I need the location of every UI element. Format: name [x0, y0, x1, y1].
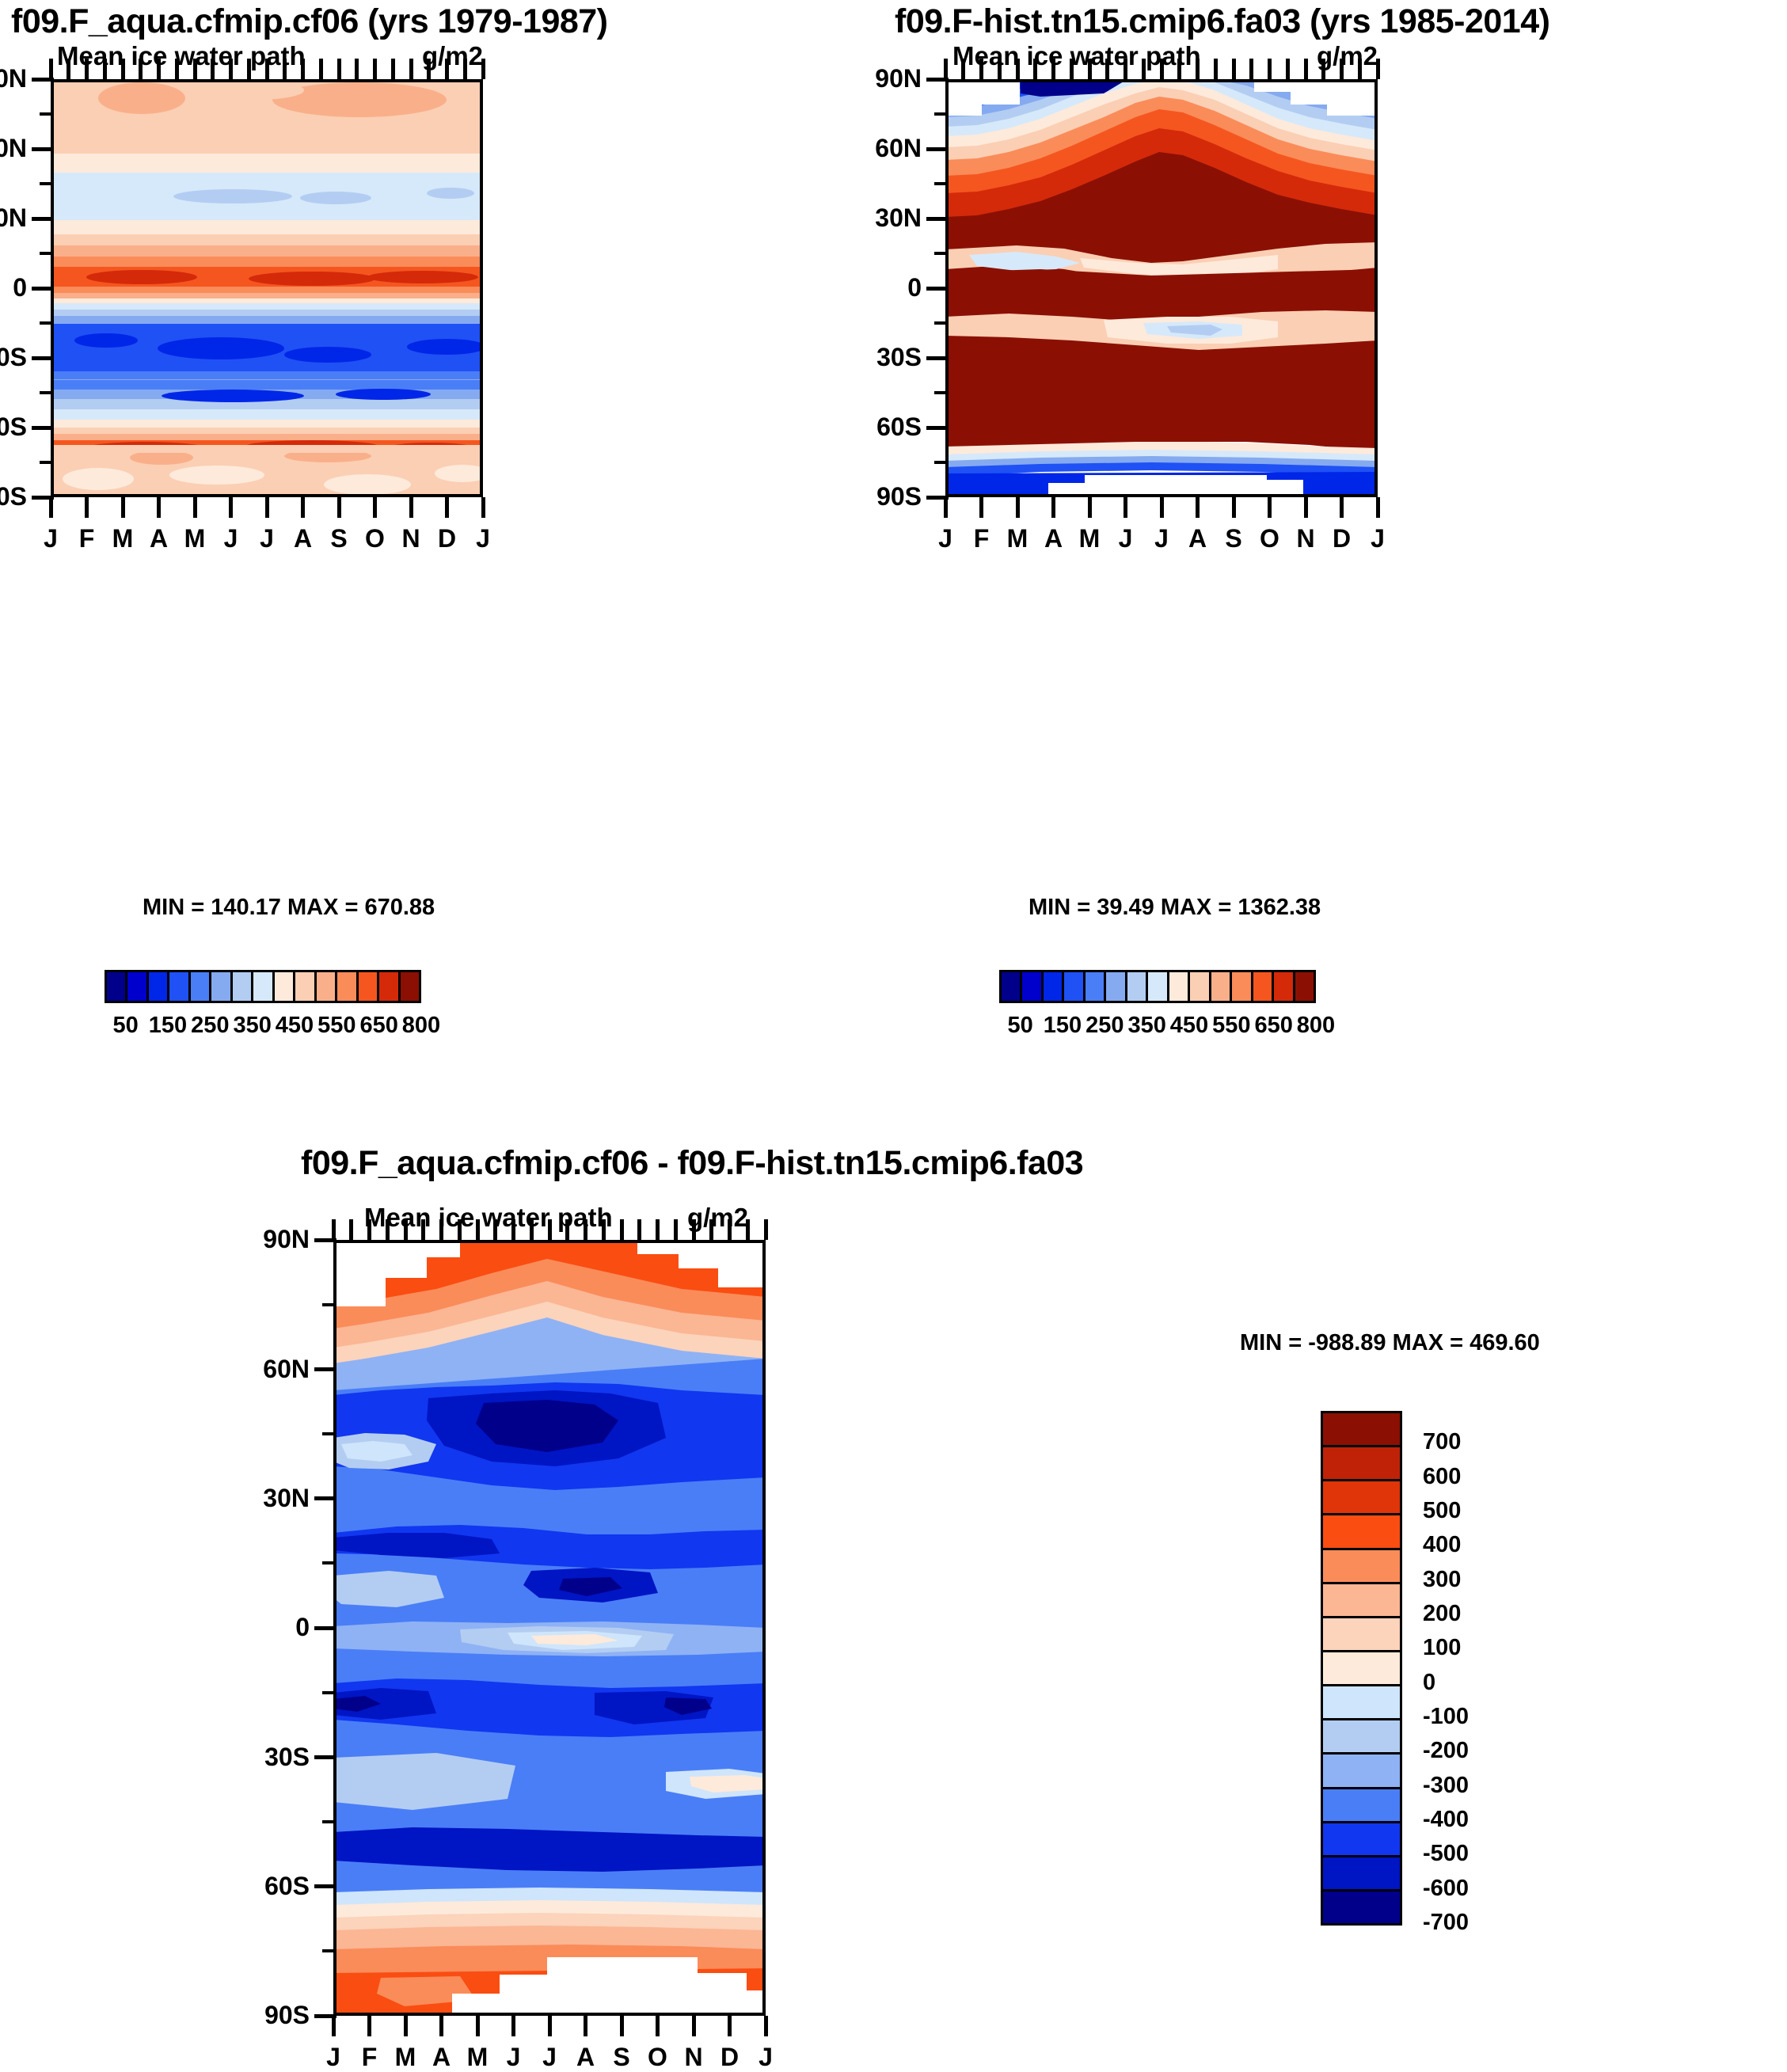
x-tick-bottom	[193, 497, 197, 518]
colorbar-swatch	[337, 972, 358, 1001]
x-tick-bottom	[476, 2016, 480, 2036]
panel-diff-colorbar	[1321, 1411, 1402, 1926]
colorbar-swatch	[1106, 972, 1127, 1001]
x-tick-top-minor	[1214, 59, 1218, 79]
colorbar-swatch	[1002, 972, 1022, 1001]
panel-right-subtitle: Mean ice water path	[952, 41, 1201, 71]
colorbar-tick-label: 300	[1423, 1567, 1542, 1593]
x-tick-bottom	[584, 2016, 587, 2036]
x-tick-top-minor	[247, 59, 251, 79]
colorbar-swatch	[1323, 1789, 1400, 1823]
y-tick-minor	[322, 1303, 336, 1306]
y-tick-minor	[322, 1561, 336, 1564]
y-tick-minor	[934, 252, 949, 255]
x-tick-bottom	[979, 497, 983, 518]
panel-left: f09.F_aqua.cfmip.cf06 (yrs 1979-1987) Me…	[0, 0, 530, 1061]
y-tick-minor	[934, 321, 949, 325]
x-tick-bottom	[49, 497, 53, 518]
y-tick-major	[32, 147, 54, 151]
x-tick-bottom	[332, 2016, 336, 2036]
colorbar-swatch	[1323, 1550, 1400, 1584]
panel-diff-subtitle: Mean ice water path	[364, 1203, 613, 1233]
y-axis-label: 0	[183, 1613, 310, 1642]
panel-right: f09.F-hist.tn15.cmip6.fa03 (yrs 1985-201…	[895, 0, 1787, 1061]
x-tick-top-minor	[1105, 59, 1109, 79]
x-tick-top-minor	[103, 59, 107, 79]
colorbar-swatch	[401, 972, 419, 1001]
x-tick-top-minor	[1321, 59, 1325, 79]
x-tick-bottom	[1376, 497, 1380, 518]
panel-diff-minmax: MIN = -988.89 MAX = 469.60	[1240, 1330, 1540, 1356]
y-tick-minor	[40, 112, 54, 116]
colorbar-tick-label: -200	[1423, 1738, 1542, 1764]
colorbar-swatch	[1190, 972, 1211, 1001]
x-tick-top-minor	[349, 1219, 353, 1240]
y-tick-minor	[40, 252, 54, 255]
x-tick-top	[409, 59, 413, 79]
panel-diff-units: g/m2	[687, 1203, 748, 1233]
x-tick-top	[944, 59, 948, 79]
colorbar-swatch	[1323, 1857, 1400, 1891]
x-tick-top	[728, 1219, 732, 1240]
x-tick-bottom	[1160, 497, 1164, 518]
y-tick-minor	[322, 1949, 336, 1952]
colorbar-swatch	[359, 972, 379, 1001]
colorbar-tick-label: -600	[1423, 1876, 1542, 1902]
x-tick-top	[1340, 59, 1344, 79]
y-tick-major	[926, 147, 949, 151]
x-tick-top-minor	[175, 59, 179, 79]
x-tick-bottom	[367, 2016, 371, 2036]
colorbar-swatch	[149, 972, 169, 1001]
colorbar-tick-label: -400	[1423, 1807, 1542, 1833]
x-tick-top	[157, 59, 161, 79]
x-tick-top-minor	[1249, 59, 1253, 79]
colorbar-swatch	[1274, 972, 1295, 1001]
colorbar-swatch	[1323, 1720, 1400, 1755]
y-axis-label: 60N	[183, 1355, 310, 1384]
colorbar-swatch	[1148, 972, 1169, 1001]
colorbar-swatch	[1323, 1481, 1400, 1515]
x-tick-top	[332, 1219, 336, 1240]
x-tick-bottom	[301, 497, 305, 518]
x-tick-bottom	[764, 2016, 768, 2036]
y-tick-minor	[934, 461, 949, 464]
colorbar-swatch	[1044, 972, 1064, 1001]
x-tick-top	[49, 59, 53, 79]
x-tick-top-minor	[211, 59, 215, 79]
y-tick-minor	[40, 461, 54, 464]
x-tick-top-minor	[1358, 59, 1362, 79]
x-tick-top-minor	[674, 1219, 678, 1240]
y-tick-major	[314, 1496, 336, 1500]
colorbar-swatch	[1295, 972, 1314, 1001]
panel-left-units: g/m2	[422, 41, 483, 71]
x-tick-top-minor	[637, 1219, 641, 1240]
x-tick-bottom	[692, 2016, 696, 2036]
panel-diff-title: f09.F_aqua.cfmip.cf06 - f09.F-hist.tn15.…	[301, 1144, 1083, 1183]
x-tick-top	[337, 59, 341, 79]
x-tick-bottom	[548, 2016, 552, 2036]
colorbar-tick-label: 200	[1423, 1601, 1542, 1627]
x-tick-top	[265, 59, 269, 79]
colorbar-tick-label: 800	[1284, 1013, 1348, 1039]
x-tick-top-minor	[67, 59, 70, 79]
x-tick-bottom	[1268, 497, 1272, 518]
colorbar-tick-label: 700	[1423, 1429, 1542, 1455]
panel-right-colorbar	[999, 970, 1316, 1003]
colorbar-swatch	[1086, 972, 1106, 1001]
x-tick-top-minor	[602, 1219, 606, 1240]
x-tick-top	[481, 59, 485, 79]
x-tick-top-minor	[139, 59, 143, 79]
y-tick-minor	[322, 1432, 336, 1435]
y-tick-minor	[40, 321, 54, 325]
x-tick-top	[1268, 59, 1272, 79]
panel-left-minmax: MIN = 140.17 MAX = 670.88	[143, 895, 435, 921]
y-tick-minor	[40, 182, 54, 185]
x-tick-bottom	[85, 497, 89, 518]
y-tick-major	[314, 1884, 336, 1888]
x-tick-top	[193, 59, 197, 79]
colorbar-swatch	[275, 972, 295, 1001]
colorbar-swatch	[1022, 972, 1043, 1001]
x-tick-bottom	[1196, 497, 1200, 518]
y-tick-major	[926, 426, 949, 430]
colorbar-swatch	[317, 972, 337, 1001]
x-tick-top-minor	[998, 59, 1002, 79]
x-axis-label: J	[1354, 524, 1401, 553]
x-tick-top-minor	[1286, 59, 1290, 79]
colorbar-swatch	[191, 972, 211, 1001]
x-tick-bottom	[1016, 497, 1020, 518]
x-tick-top-minor	[746, 1219, 750, 1240]
x-tick-top-minor	[1070, 59, 1074, 79]
x-tick-bottom	[1232, 497, 1236, 518]
y-axis-label: 30N	[0, 203, 27, 233]
x-tick-bottom	[404, 2016, 408, 2036]
x-tick-top	[692, 1219, 696, 1240]
y-tick-minor	[934, 182, 949, 185]
y-tick-minor	[322, 1691, 336, 1694]
x-tick-top-minor	[427, 59, 431, 79]
x-tick-bottom	[445, 497, 449, 518]
x-tick-top	[1016, 59, 1020, 79]
y-axis-label: 30S	[0, 343, 27, 372]
x-tick-top	[301, 59, 305, 79]
x-tick-bottom	[229, 497, 233, 518]
x-tick-bottom	[1340, 497, 1344, 518]
x-tick-bottom	[409, 497, 413, 518]
colorbar-swatch	[295, 972, 316, 1001]
colorbar-tick-label: -300	[1423, 1773, 1542, 1799]
x-tick-bottom	[656, 2016, 660, 2036]
y-tick-minor	[40, 391, 54, 394]
colorbar-tick-label: 500	[1423, 1498, 1542, 1524]
x-tick-bottom	[1124, 497, 1127, 518]
x-tick-top	[1051, 59, 1055, 79]
panel-diff: f09.F_aqua.cfmip.cf06 - f09.F-hist.tn15.…	[301, 1124, 1787, 2055]
colorbar-swatch	[379, 972, 400, 1001]
x-tick-bottom	[439, 2016, 443, 2036]
colorbar-tick-label: 600	[1423, 1464, 1542, 1490]
x-tick-top	[85, 59, 89, 79]
y-axis-label: 90S	[183, 2001, 310, 2030]
x-axis-label: J	[459, 524, 507, 553]
colorbar-swatch	[211, 972, 232, 1001]
x-tick-top-minor	[1177, 59, 1181, 79]
y-tick-major	[32, 356, 54, 360]
x-tick-top	[1160, 59, 1164, 79]
colorbar-swatch	[233, 972, 253, 1001]
x-tick-top	[121, 59, 125, 79]
x-tick-bottom	[121, 497, 125, 518]
x-tick-top	[1232, 59, 1236, 79]
x-tick-top-minor	[1033, 59, 1037, 79]
colorbar-swatch	[127, 972, 148, 1001]
colorbar-swatch	[1253, 972, 1274, 1001]
y-tick-major	[926, 217, 949, 221]
colorbar-tick-label: -500	[1423, 1841, 1542, 1867]
x-tick-top	[404, 1219, 408, 1240]
y-tick-major	[32, 426, 54, 430]
x-tick-top-minor	[391, 59, 395, 79]
x-tick-top	[979, 59, 983, 79]
x-tick-top-minor	[355, 59, 359, 79]
colorbar-swatch	[1323, 1515, 1400, 1549]
y-tick-major	[314, 1367, 336, 1371]
x-tick-bottom	[265, 497, 269, 518]
y-axis-label: 90N	[0, 64, 27, 93]
y-axis-label: 30S	[183, 1743, 310, 1772]
x-tick-top	[548, 1219, 552, 1240]
x-tick-top-minor	[530, 1219, 534, 1240]
colorbar-swatch	[253, 972, 274, 1001]
colorbar-tick-label: 100	[1423, 1635, 1542, 1661]
x-tick-top-minor	[565, 1219, 569, 1240]
x-tick-top-minor	[283, 59, 287, 79]
colorbar-swatch	[1323, 1447, 1400, 1481]
x-tick-top-minor	[421, 1219, 425, 1240]
y-tick-major	[314, 1755, 336, 1759]
x-tick-top-minor	[493, 1219, 497, 1240]
y-tick-minor	[322, 1820, 336, 1823]
x-tick-bottom	[337, 497, 341, 518]
x-tick-bottom	[944, 497, 948, 518]
x-tick-top	[584, 1219, 587, 1240]
colorbar-swatch	[1323, 1823, 1400, 1857]
colorbar-swatch	[1211, 972, 1232, 1001]
colorbar-swatch	[1064, 972, 1085, 1001]
colorbar-swatch	[107, 972, 127, 1001]
panel-left-title: f09.F_aqua.cfmip.cf06 (yrs 1979-1987)	[11, 2, 608, 41]
colorbar-swatch	[1323, 1891, 1400, 1923]
colorbar-swatch	[1323, 1686, 1400, 1720]
y-axis-label: 30S	[795, 343, 922, 372]
y-axis-label: 90N	[795, 64, 922, 93]
panel-right-frame	[945, 79, 1378, 497]
panel-left-frame	[51, 79, 483, 497]
x-tick-top	[764, 1219, 768, 1240]
colorbar-swatch	[1169, 972, 1190, 1001]
x-tick-bottom	[1304, 497, 1308, 518]
x-tick-bottom	[511, 2016, 515, 2036]
panel-right-units: g/m2	[1317, 41, 1378, 71]
x-tick-top	[445, 59, 449, 79]
colorbar-swatch	[1323, 1755, 1400, 1789]
x-tick-top-minor	[1142, 59, 1146, 79]
colorbar-tick-label: -100	[1423, 1704, 1542, 1730]
y-axis-label: 0	[795, 273, 922, 302]
y-axis-label: 90S	[0, 482, 27, 511]
x-tick-top	[439, 1219, 443, 1240]
y-axis-label: 0	[0, 273, 27, 302]
y-axis-label: 90S	[795, 482, 922, 511]
y-tick-major	[32, 217, 54, 221]
x-tick-top-minor	[319, 59, 323, 79]
colorbar-swatch	[1323, 1584, 1400, 1618]
x-tick-bottom	[1088, 497, 1092, 518]
x-tick-top	[1196, 59, 1200, 79]
x-tick-top	[620, 1219, 624, 1240]
y-axis-label: 60N	[795, 134, 922, 163]
y-axis-label: 60S	[795, 412, 922, 442]
panel-right-title: f09.F-hist.tn15.cmip6.fa03 (yrs 1985-201…	[895, 2, 1549, 41]
x-tick-top-minor	[961, 59, 965, 79]
y-tick-minor	[934, 391, 949, 394]
panel-right-minmax: MIN = 39.49 MAX = 1362.38	[1028, 895, 1321, 921]
y-axis-label: 60S	[183, 1872, 310, 1901]
x-tick-top-minor	[386, 1219, 390, 1240]
y-tick-major	[314, 1626, 336, 1630]
x-tick-bottom	[620, 2016, 624, 2036]
y-tick-minor	[934, 112, 949, 116]
colorbar-swatch	[169, 972, 190, 1001]
y-tick-major	[926, 287, 949, 291]
x-tick-top	[229, 59, 233, 79]
x-tick-top	[373, 59, 377, 79]
colorbar-tick-label: -700	[1423, 1910, 1542, 1936]
x-tick-top-minor	[458, 1219, 462, 1240]
x-tick-top-minor	[463, 59, 467, 79]
x-tick-top	[656, 1219, 660, 1240]
panel-left-colorbar	[105, 970, 421, 1003]
colorbar-swatch	[1323, 1413, 1400, 1447]
y-axis-label: 60N	[0, 134, 27, 163]
x-tick-top	[367, 1219, 371, 1240]
panel-diff-frame	[333, 1240, 766, 2016]
colorbar-swatch	[1232, 972, 1253, 1001]
y-axis-label: 30N	[183, 1484, 310, 1513]
x-tick-top	[476, 1219, 480, 1240]
colorbar-tick-label: 800	[390, 1013, 453, 1039]
y-axis-label: 30N	[795, 203, 922, 233]
y-axis-label: 60S	[0, 412, 27, 442]
x-tick-top	[1304, 59, 1308, 79]
x-axis-label: J	[742, 2043, 789, 2072]
x-tick-top	[1124, 59, 1127, 79]
x-tick-bottom	[157, 497, 161, 518]
y-tick-major	[926, 356, 949, 360]
colorbar-swatch	[1323, 1652, 1400, 1686]
x-tick-top	[511, 1219, 515, 1240]
y-tick-major	[32, 287, 54, 291]
x-tick-bottom	[373, 497, 377, 518]
colorbar-tick-label: 400	[1423, 1532, 1542, 1558]
x-tick-bottom	[481, 497, 485, 518]
x-tick-top-minor	[709, 1219, 713, 1240]
colorbar-swatch	[1127, 972, 1148, 1001]
colorbar-swatch	[1323, 1618, 1400, 1652]
x-tick-top	[1376, 59, 1380, 79]
x-tick-top	[1088, 59, 1092, 79]
x-tick-bottom	[1051, 497, 1055, 518]
y-axis-label: 90N	[183, 1225, 310, 1254]
colorbar-tick-label: 0	[1423, 1670, 1542, 1696]
x-tick-bottom	[728, 2016, 732, 2036]
